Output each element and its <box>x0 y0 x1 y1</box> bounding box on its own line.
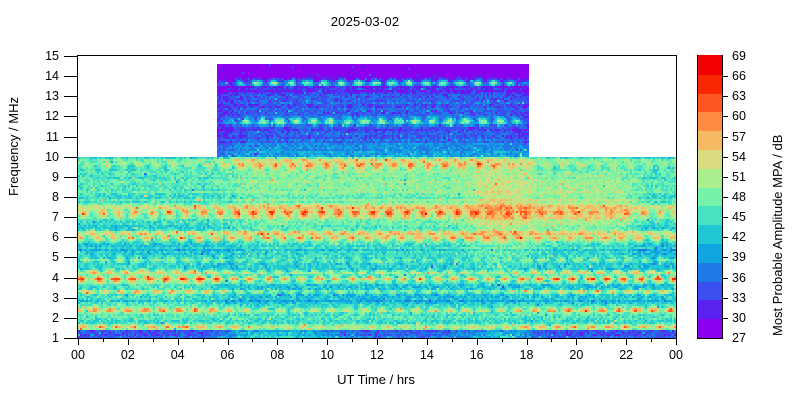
y-tick-label: 2 <box>52 311 59 325</box>
x-tick-minor <box>402 338 403 342</box>
colorbar-tick-label: 42 <box>732 230 746 244</box>
x-tick-label: 04 <box>171 348 185 362</box>
colorbar-tick-label: 36 <box>732 271 746 285</box>
x-tick-minor <box>551 338 552 342</box>
colorbar-tick-label: 63 <box>732 89 746 103</box>
colorbar-tick <box>722 217 728 218</box>
y-tick <box>64 116 78 117</box>
x-tick-minor <box>203 338 204 342</box>
colorbar-segment <box>698 262 722 281</box>
colorbar-tick <box>722 197 728 198</box>
colorbar-tick <box>722 76 728 77</box>
x-tick-label: 06 <box>221 348 235 362</box>
colorbar-tick <box>722 278 728 279</box>
y-tick <box>64 298 78 299</box>
y-tick <box>64 177 78 178</box>
colorbar-tick-label: 60 <box>732 109 746 123</box>
colorbar-segment <box>698 243 722 262</box>
y-tick <box>64 76 78 77</box>
colorbar-segment <box>698 149 722 168</box>
colorbar-tick-label: 45 <box>732 210 746 224</box>
page-title: 2025-03-02 <box>0 14 730 29</box>
y-tick <box>64 318 78 319</box>
x-tick <box>427 338 428 345</box>
colorbar-tick <box>722 96 728 97</box>
y-tick <box>64 237 78 238</box>
y-tick-label: 13 <box>45 89 59 103</box>
spectrogram-heatmap <box>78 56 676 338</box>
x-tick-label: 10 <box>320 348 334 362</box>
y-tick-label: 5 <box>52 250 59 264</box>
colorbar-label: Most Probable Amplitude MPA / dB <box>770 135 785 336</box>
y-tick-label: 1 <box>52 331 59 345</box>
y-tick-label: 12 <box>45 109 59 123</box>
colorbar-tick <box>722 137 728 138</box>
y-tick <box>64 56 78 57</box>
x-axis-label: UT Time / hrs <box>77 372 675 387</box>
y-tick <box>64 338 78 339</box>
x-tick <box>128 338 129 345</box>
colorbar-segment <box>698 55 722 74</box>
colorbar-segment <box>698 112 722 131</box>
x-tick-minor <box>502 338 503 342</box>
x-tick-minor <box>651 338 652 342</box>
colorbar-tick-label: 33 <box>732 291 746 305</box>
y-tick <box>64 257 78 258</box>
colorbar-segment <box>698 225 722 244</box>
colorbar-tick-label: 69 <box>732 49 746 63</box>
colorbar-tick-label: 30 <box>732 311 746 325</box>
y-axis-label: Frequency / MHz <box>6 97 21 196</box>
x-tick <box>626 338 627 345</box>
colorbar-segment <box>698 300 722 319</box>
x-tick-minor <box>103 338 104 342</box>
y-tick-label: 8 <box>52 190 59 204</box>
x-tick-minor <box>153 338 154 342</box>
y-tick <box>64 217 78 218</box>
colorbar-tick-label: 54 <box>732 150 746 164</box>
figure-root: 2025-03-02 123456789101112131415 0002040… <box>0 0 800 400</box>
colorbar-tick <box>722 116 728 117</box>
colorbar-tick-label: 39 <box>732 250 746 264</box>
x-tick-label: 14 <box>420 348 434 362</box>
y-tick-label: 6 <box>52 230 59 244</box>
x-tick-label: 12 <box>370 348 384 362</box>
colorbar-segment <box>698 319 722 338</box>
colorbar-tick-label: 48 <box>732 190 746 204</box>
x-tick-label: 18 <box>520 348 534 362</box>
colorbar-tick <box>722 177 728 178</box>
colorbar: 273033363942454851545760636669 <box>697 55 723 339</box>
x-tick-label: 20 <box>569 348 583 362</box>
x-tick-label: 00 <box>669 348 683 362</box>
x-tick-minor <box>302 338 303 342</box>
x-tick <box>277 338 278 345</box>
colorbar-tick <box>722 237 728 238</box>
x-tick <box>576 338 577 345</box>
y-tick <box>64 157 78 158</box>
y-tick-label: 9 <box>52 170 59 184</box>
x-tick-minor <box>452 338 453 342</box>
colorbar-segment <box>698 187 722 206</box>
x-tick-minor <box>352 338 353 342</box>
colorbar-tick <box>722 298 728 299</box>
y-tick <box>64 278 78 279</box>
x-tick-label: 16 <box>470 348 484 362</box>
y-tick-label: 15 <box>45 49 59 63</box>
x-tick-label: 00 <box>71 348 85 362</box>
x-tick <box>178 338 179 345</box>
y-tick-label: 11 <box>46 130 59 144</box>
y-tick-label: 10 <box>45 150 59 164</box>
colorbar-segment <box>698 131 722 150</box>
colorbar-segment <box>698 281 722 300</box>
y-tick <box>64 197 78 198</box>
x-tick <box>676 338 677 345</box>
y-tick-label: 14 <box>45 69 59 83</box>
x-tick <box>377 338 378 345</box>
x-tick-minor <box>252 338 253 342</box>
x-tick-label: 22 <box>619 348 633 362</box>
y-tick-label: 4 <box>52 271 59 285</box>
colorbar-segment <box>698 168 722 187</box>
colorbar-tick <box>722 257 728 258</box>
x-tick <box>228 338 229 345</box>
colorbar-tick-label: 66 <box>732 69 746 83</box>
x-tick-label: 02 <box>121 348 135 362</box>
y-tick <box>64 96 78 97</box>
colorbar-tick-label: 51 <box>732 170 746 184</box>
x-tick-label: 08 <box>270 348 284 362</box>
colorbar-segment <box>698 93 722 112</box>
x-tick <box>527 338 528 345</box>
x-tick-minor <box>601 338 602 342</box>
colorbar-segment <box>698 206 722 225</box>
colorbar-tick-label: 57 <box>732 130 746 144</box>
y-tick <box>64 137 78 138</box>
y-tick-label: 3 <box>52 291 59 305</box>
y-tick-label: 7 <box>52 210 59 224</box>
x-tick <box>78 338 79 345</box>
plot-area: 123456789101112131415 000204060810121416… <box>77 55 677 339</box>
colorbar-segment <box>698 74 722 93</box>
colorbar-tick-label: 27 <box>732 331 746 345</box>
colorbar-tick <box>722 318 728 319</box>
x-tick <box>327 338 328 345</box>
x-tick <box>477 338 478 345</box>
colorbar-tick <box>722 157 728 158</box>
